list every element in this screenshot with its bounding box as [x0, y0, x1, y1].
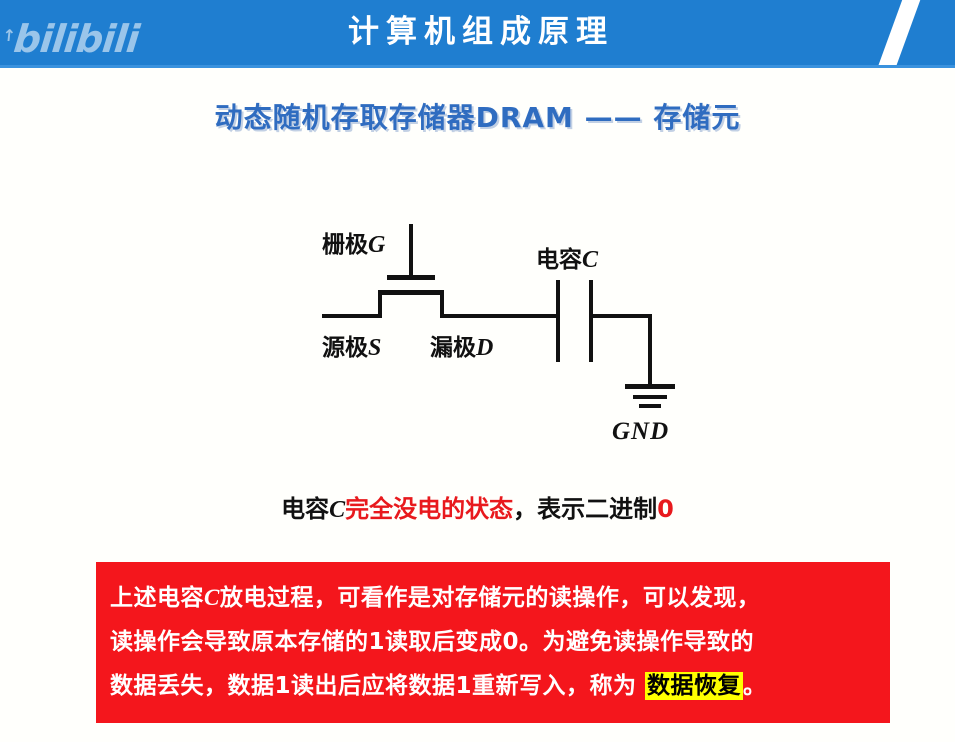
note-line-1b: 放电过程，可看作是对存储元的读操作，可以发现， [220, 585, 761, 611]
state-caption: 电容C完全没电的状态，表示二进制0 [0, 489, 955, 524]
ground-bar-1 [625, 384, 675, 389]
capacitor-left-plate [556, 280, 560, 362]
note-line-3a: 数据丢失，数据1读出后应将数据1重新写入，称为 [110, 673, 637, 699]
page-title: 计算机组成原理 [0, 0, 955, 64]
gate-label-text: 栅极 [322, 232, 368, 258]
gate-symbol: G [368, 232, 385, 258]
ground-label: GND [612, 418, 669, 446]
capacitor-right-plate [589, 280, 593, 362]
source-wire [322, 314, 382, 318]
caption-binary-value: 0 [657, 495, 674, 523]
note-line-3: 数据丢失，数据1读出后应将数据1重新写入，称为 数据恢复。 [110, 664, 878, 708]
gate-lead-wire [409, 224, 413, 276]
caption-highlight-red: 完全没电的状态 [345, 495, 513, 523]
note-line-3b: 。 [743, 673, 767, 699]
note-highlight-term: 数据恢复 [645, 672, 743, 700]
drain-label: 漏极D [430, 328, 493, 362]
red-note-box: 上述电容C放电过程，可看作是对存储元的读操作，可以发现， 读操作会导致原本存储的… [96, 562, 890, 723]
note-line-1-capacitor-symbol: C [204, 585, 220, 610]
drain-label-text: 漏极 [430, 335, 476, 361]
note-line-2: 读操作会导致原本存储的1读取后变成0。为避免读操作导致的 [110, 620, 878, 664]
caption-capacitor-symbol: C [329, 497, 345, 523]
drain-symbol: D [476, 335, 493, 361]
capacitor-symbol: C [582, 247, 598, 273]
caption-part1: 电容 [281, 495, 329, 523]
ground-bar-3 [639, 404, 661, 408]
capacitor-label: 电容C [536, 240, 598, 274]
dram-storage-cell-circuit: 栅极G 源极S 漏极D 电容C GND [0, 180, 955, 470]
source-symbol: S [368, 335, 381, 361]
header-banner: ↑bilibili 计算机组成原理 [0, 0, 955, 68]
note-line-1: 上述电容C放电过程，可看作是对存储元的读操作，可以发现， [110, 576, 878, 620]
drain-stub-wire [440, 290, 444, 317]
ground-drop-wire [648, 314, 652, 385]
note-line-1a: 上述电容 [110, 585, 204, 611]
channel-bar-wire [378, 290, 444, 295]
gate-plate-wire [387, 275, 435, 280]
source-stub-wire [378, 290, 382, 317]
drain-wire [440, 314, 559, 318]
capacitor-to-ground-wire [589, 314, 652, 318]
source-label: 源极S [322, 328, 381, 362]
gate-label: 栅极G [322, 225, 385, 259]
caption-part3: ，表示二进制 [513, 495, 657, 523]
capacitor-label-text: 电容 [536, 247, 582, 273]
banner-bottom-edge [0, 65, 955, 68]
ground-bar-2 [633, 395, 667, 399]
slide-subtitle: 动态随机存取存储器DRAM —— 存储元 [0, 96, 955, 136]
source-label-text: 源极 [322, 335, 368, 361]
